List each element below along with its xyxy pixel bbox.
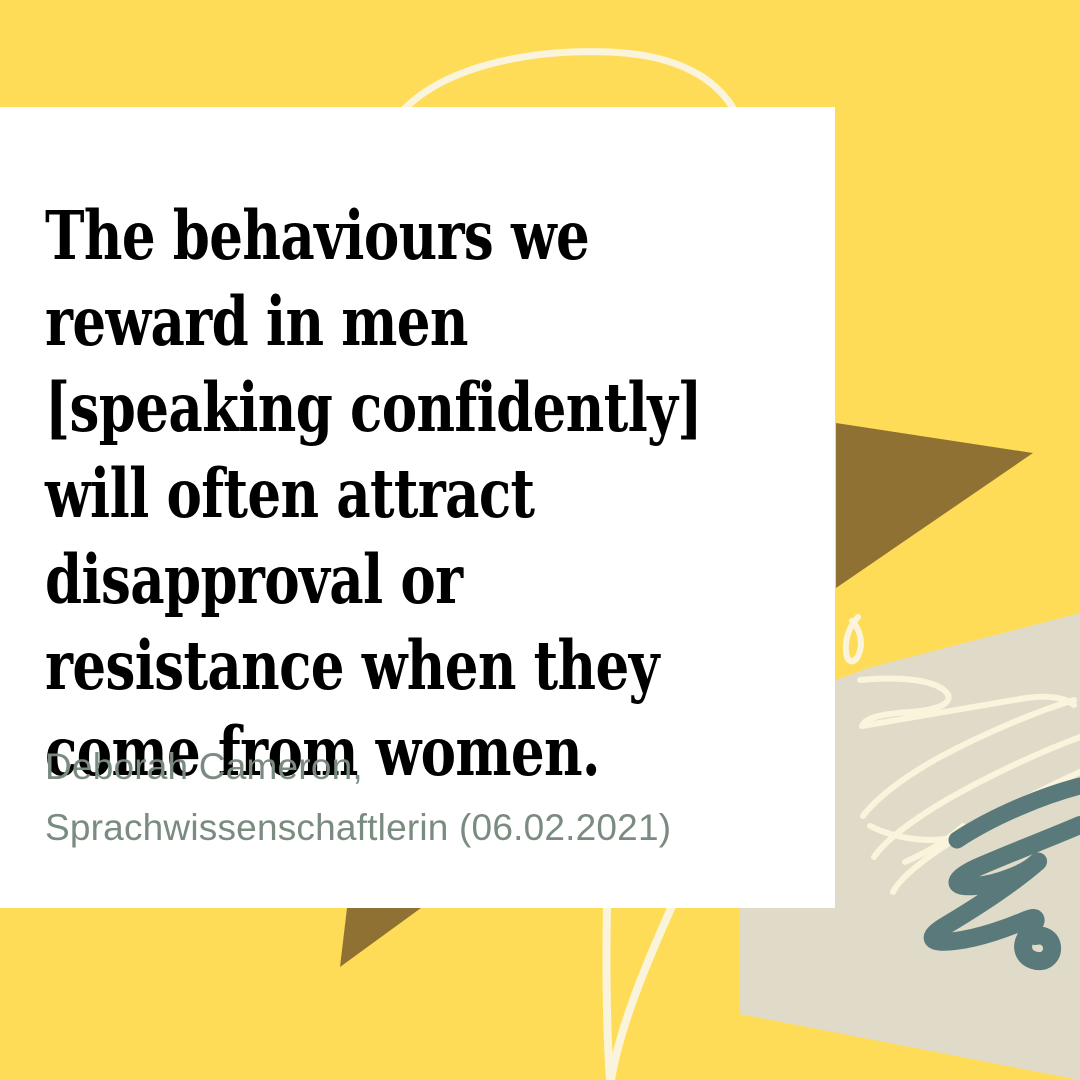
poster-canvas: The behaviours we reward in men [speakin… bbox=[0, 0, 1080, 1080]
quote-card: The behaviours we reward in men [speakin… bbox=[0, 107, 835, 908]
attribution-name: Deborah Cameron, bbox=[45, 736, 805, 797]
attribution: Deborah Cameron, Sprachwissenschaftlerin… bbox=[45, 736, 805, 858]
quote-text: The behaviours we reward in men [speakin… bbox=[45, 193, 762, 795]
quote-block: The behaviours we reward in men [speakin… bbox=[45, 193, 765, 795]
bottom-curve-left-shape bbox=[606, 906, 610, 1080]
attribution-role-date: Sprachwissenschaftlerin (06.02.2021) bbox=[45, 797, 805, 858]
